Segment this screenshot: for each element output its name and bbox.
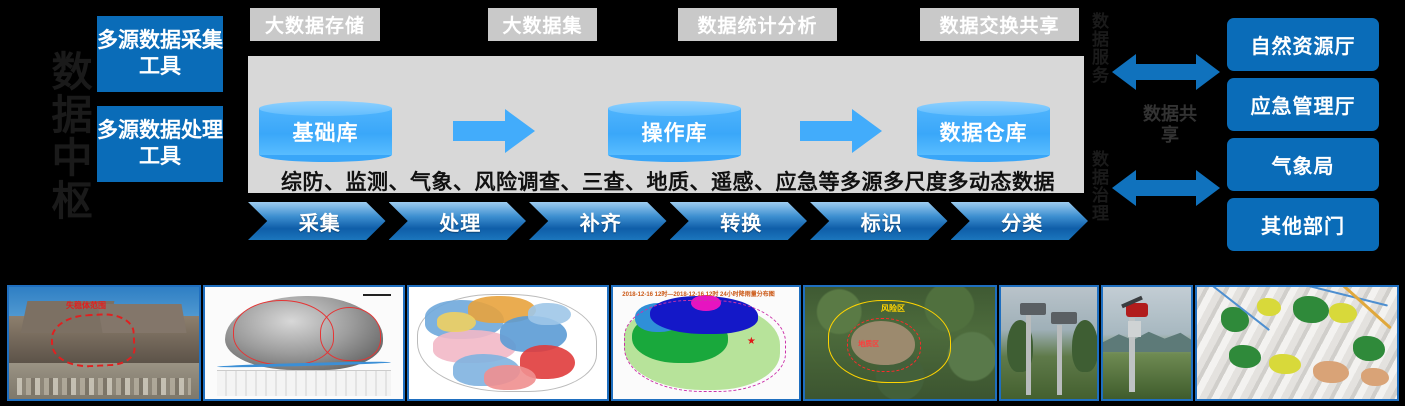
process-step-complete[interactable]: 补齐 <box>529 202 667 240</box>
process-step-collect[interactable]: 采集 <box>248 202 386 240</box>
aerial-risk-zone-photo[interactable]: 风险区 地质区 <box>803 285 997 401</box>
failure-zone-outline <box>49 312 135 370</box>
tool-box-collection-label: 多源数据采集工具 <box>97 28 223 79</box>
database-cylinder-base[interactable]: 基础库 <box>259 101 392 159</box>
boundary-outline-primary <box>233 300 334 365</box>
database-cylinder-base-label: 基础库 <box>259 108 392 155</box>
hazard-zone-green <box>1229 345 1261 367</box>
sensor-pole <box>1026 314 1031 395</box>
siren-control-box <box>1128 321 1141 337</box>
section-header-statistics-label: 数据统计分析 <box>697 11 817 38</box>
vertical-label-data-service: 数据服务 <box>1090 12 1107 122</box>
department-box-natural-resources[interactable]: 自然资源厅 <box>1227 18 1379 71</box>
process-step-transform-label: 转换 <box>714 207 762 236</box>
tool-box-collection[interactable]: 多源数据采集工具 <box>97 16 223 92</box>
hazard-zone-tan <box>1313 361 1349 383</box>
hazard-zone-green <box>1353 336 1385 361</box>
process-step-chevrons: 采集 处理 补齐 转换 标识 分类 <box>248 202 1088 240</box>
database-cylinder-operation-label: 操作库 <box>608 108 741 155</box>
department-box-natural-resources-label: 自然资源厅 <box>1251 30 1356 59</box>
flow-arrow-1-icon <box>453 109 535 153</box>
process-step-identify[interactable]: 标识 <box>810 202 948 240</box>
geological-zoning-map[interactable] <box>407 285 609 401</box>
mountain-village-photo[interactable]: 失稳体范围 <box>7 285 201 401</box>
tool-box-processing-label: 多源数据处理工具 <box>97 118 223 169</box>
flow-arrow-2-icon <box>800 109 882 153</box>
rainfall-distribution-map[interactable]: ★ 2018-12-16 12时—2018-12-16 12时 24小时降雨量分… <box>611 285 801 401</box>
section-header-exchange-label: 数据交换共享 <box>939 11 1059 38</box>
rainfall-map-canvas: ★ 2018-12-16 12时—2018-12-16 12时 24小时降雨量分… <box>613 287 799 399</box>
process-step-identify-label: 标识 <box>855 207 903 236</box>
risk-zone-annotation: 风险区 <box>881 303 905 314</box>
department-box-emergency-management[interactable]: 应急管理厅 <box>1227 78 1379 131</box>
hazard-zone-tan <box>1361 368 1389 386</box>
map-legend <box>217 370 391 396</box>
hazard-zone-green <box>1293 296 1329 323</box>
department-box-other-label: 其他部门 <box>1261 210 1345 239</box>
rainfall-map-title: 2018-12-16 12时—2018-12-16 12时 24小时降雨量分布图 <box>622 289 774 298</box>
village-region <box>9 363 199 399</box>
station-canvas <box>1001 287 1097 399</box>
warning-siren-photo[interactable] <box>1101 285 1193 401</box>
section-header-dataset-label: 大数据集 <box>502 11 582 38</box>
exchange-double-arrow-top-icon <box>1112 52 1220 92</box>
data-sources-caption: 综防、监测、气象、风险调查、三查、地质、遥感、应急等多源多尺度多动态数据 <box>258 166 1078 196</box>
terrain-map-canvas <box>205 287 403 399</box>
database-cylinder-warehouse[interactable]: 数据仓库 <box>917 101 1050 159</box>
hazard-relief-map[interactable] <box>1195 285 1399 401</box>
compass-icon <box>363 294 391 296</box>
department-box-emergency-management-label: 应急管理厅 <box>1251 90 1356 119</box>
diagram-vertical-title: 数据中枢 <box>22 18 88 253</box>
camera-pole <box>1057 325 1062 394</box>
geology-map-canvas <box>409 287 607 399</box>
section-header-storage-label: 大数据存储 <box>265 11 365 38</box>
capital-marker-icon: ★ <box>747 336 756 347</box>
data-share-label: 数据共享 <box>1140 104 1200 145</box>
section-header-statistics: 数据统计分析 <box>678 8 837 41</box>
terrain-interpretation-map[interactable] <box>203 285 405 401</box>
relief-map-canvas <box>1197 287 1397 399</box>
process-step-classify-label: 分类 <box>995 207 1043 236</box>
process-step-process[interactable]: 处理 <box>389 202 527 240</box>
hazard-zone-yellow <box>1257 298 1281 316</box>
process-step-collect-label: 采集 <box>293 207 341 236</box>
tool-box-processing[interactable]: 多源数据处理工具 <box>97 106 223 182</box>
tree <box>1072 320 1098 372</box>
siren-canvas <box>1103 287 1191 399</box>
background-hills <box>1103 327 1191 352</box>
exchange-double-arrow-bottom-icon <box>1112 168 1220 208</box>
sensor-head <box>1020 303 1046 315</box>
camera-head <box>1051 312 1077 324</box>
zone-patch <box>437 312 477 332</box>
department-box-other[interactable]: 其他部门 <box>1227 198 1379 251</box>
section-header-exchange: 数据交换共享 <box>920 8 1079 41</box>
aerial-canvas: 风险区 地质区 <box>805 287 995 399</box>
process-step-classify[interactable]: 分类 <box>951 202 1089 240</box>
hazard-zone-yellow <box>1329 303 1357 323</box>
boundary-outline-secondary <box>320 307 381 361</box>
monitoring-station-photo[interactable] <box>999 285 1099 401</box>
department-box-meteorology[interactable]: 气象局 <box>1227 138 1379 191</box>
failure-zone-annotation: 失稳体范围 <box>66 300 106 311</box>
department-box-meteorology-label: 气象局 <box>1272 150 1335 179</box>
section-header-storage: 大数据存储 <box>250 8 380 41</box>
architecture-diagram: 数据中枢 多源数据采集工具 多源数据处理工具 大数据存储 大数据集 数据统计分析… <box>0 0 1405 268</box>
photo-strip: 失稳体范围 <box>0 270 1405 406</box>
zone-patch <box>528 303 572 325</box>
screenshot-root: 数据中枢 多源数据采集工具 多源数据处理工具 大数据存储 大数据集 数据统计分析… <box>0 0 1405 406</box>
database-cylinder-operation[interactable]: 操作库 <box>608 101 741 159</box>
process-step-process-label: 处理 <box>433 207 481 236</box>
database-cylinder-warehouse-label: 数据仓库 <box>917 108 1050 155</box>
geology-zone-annotation: 地质区 <box>858 339 879 349</box>
hazard-zone-yellow <box>1269 354 1301 374</box>
vertical-label-data-governance: 数据治理 <box>1090 150 1107 260</box>
zone-patch <box>484 365 535 390</box>
section-header-dataset: 大数据集 <box>488 8 597 41</box>
province-boundary <box>624 300 786 392</box>
process-step-transform[interactable]: 转换 <box>670 202 808 240</box>
process-step-complete-label: 补齐 <box>574 207 622 236</box>
